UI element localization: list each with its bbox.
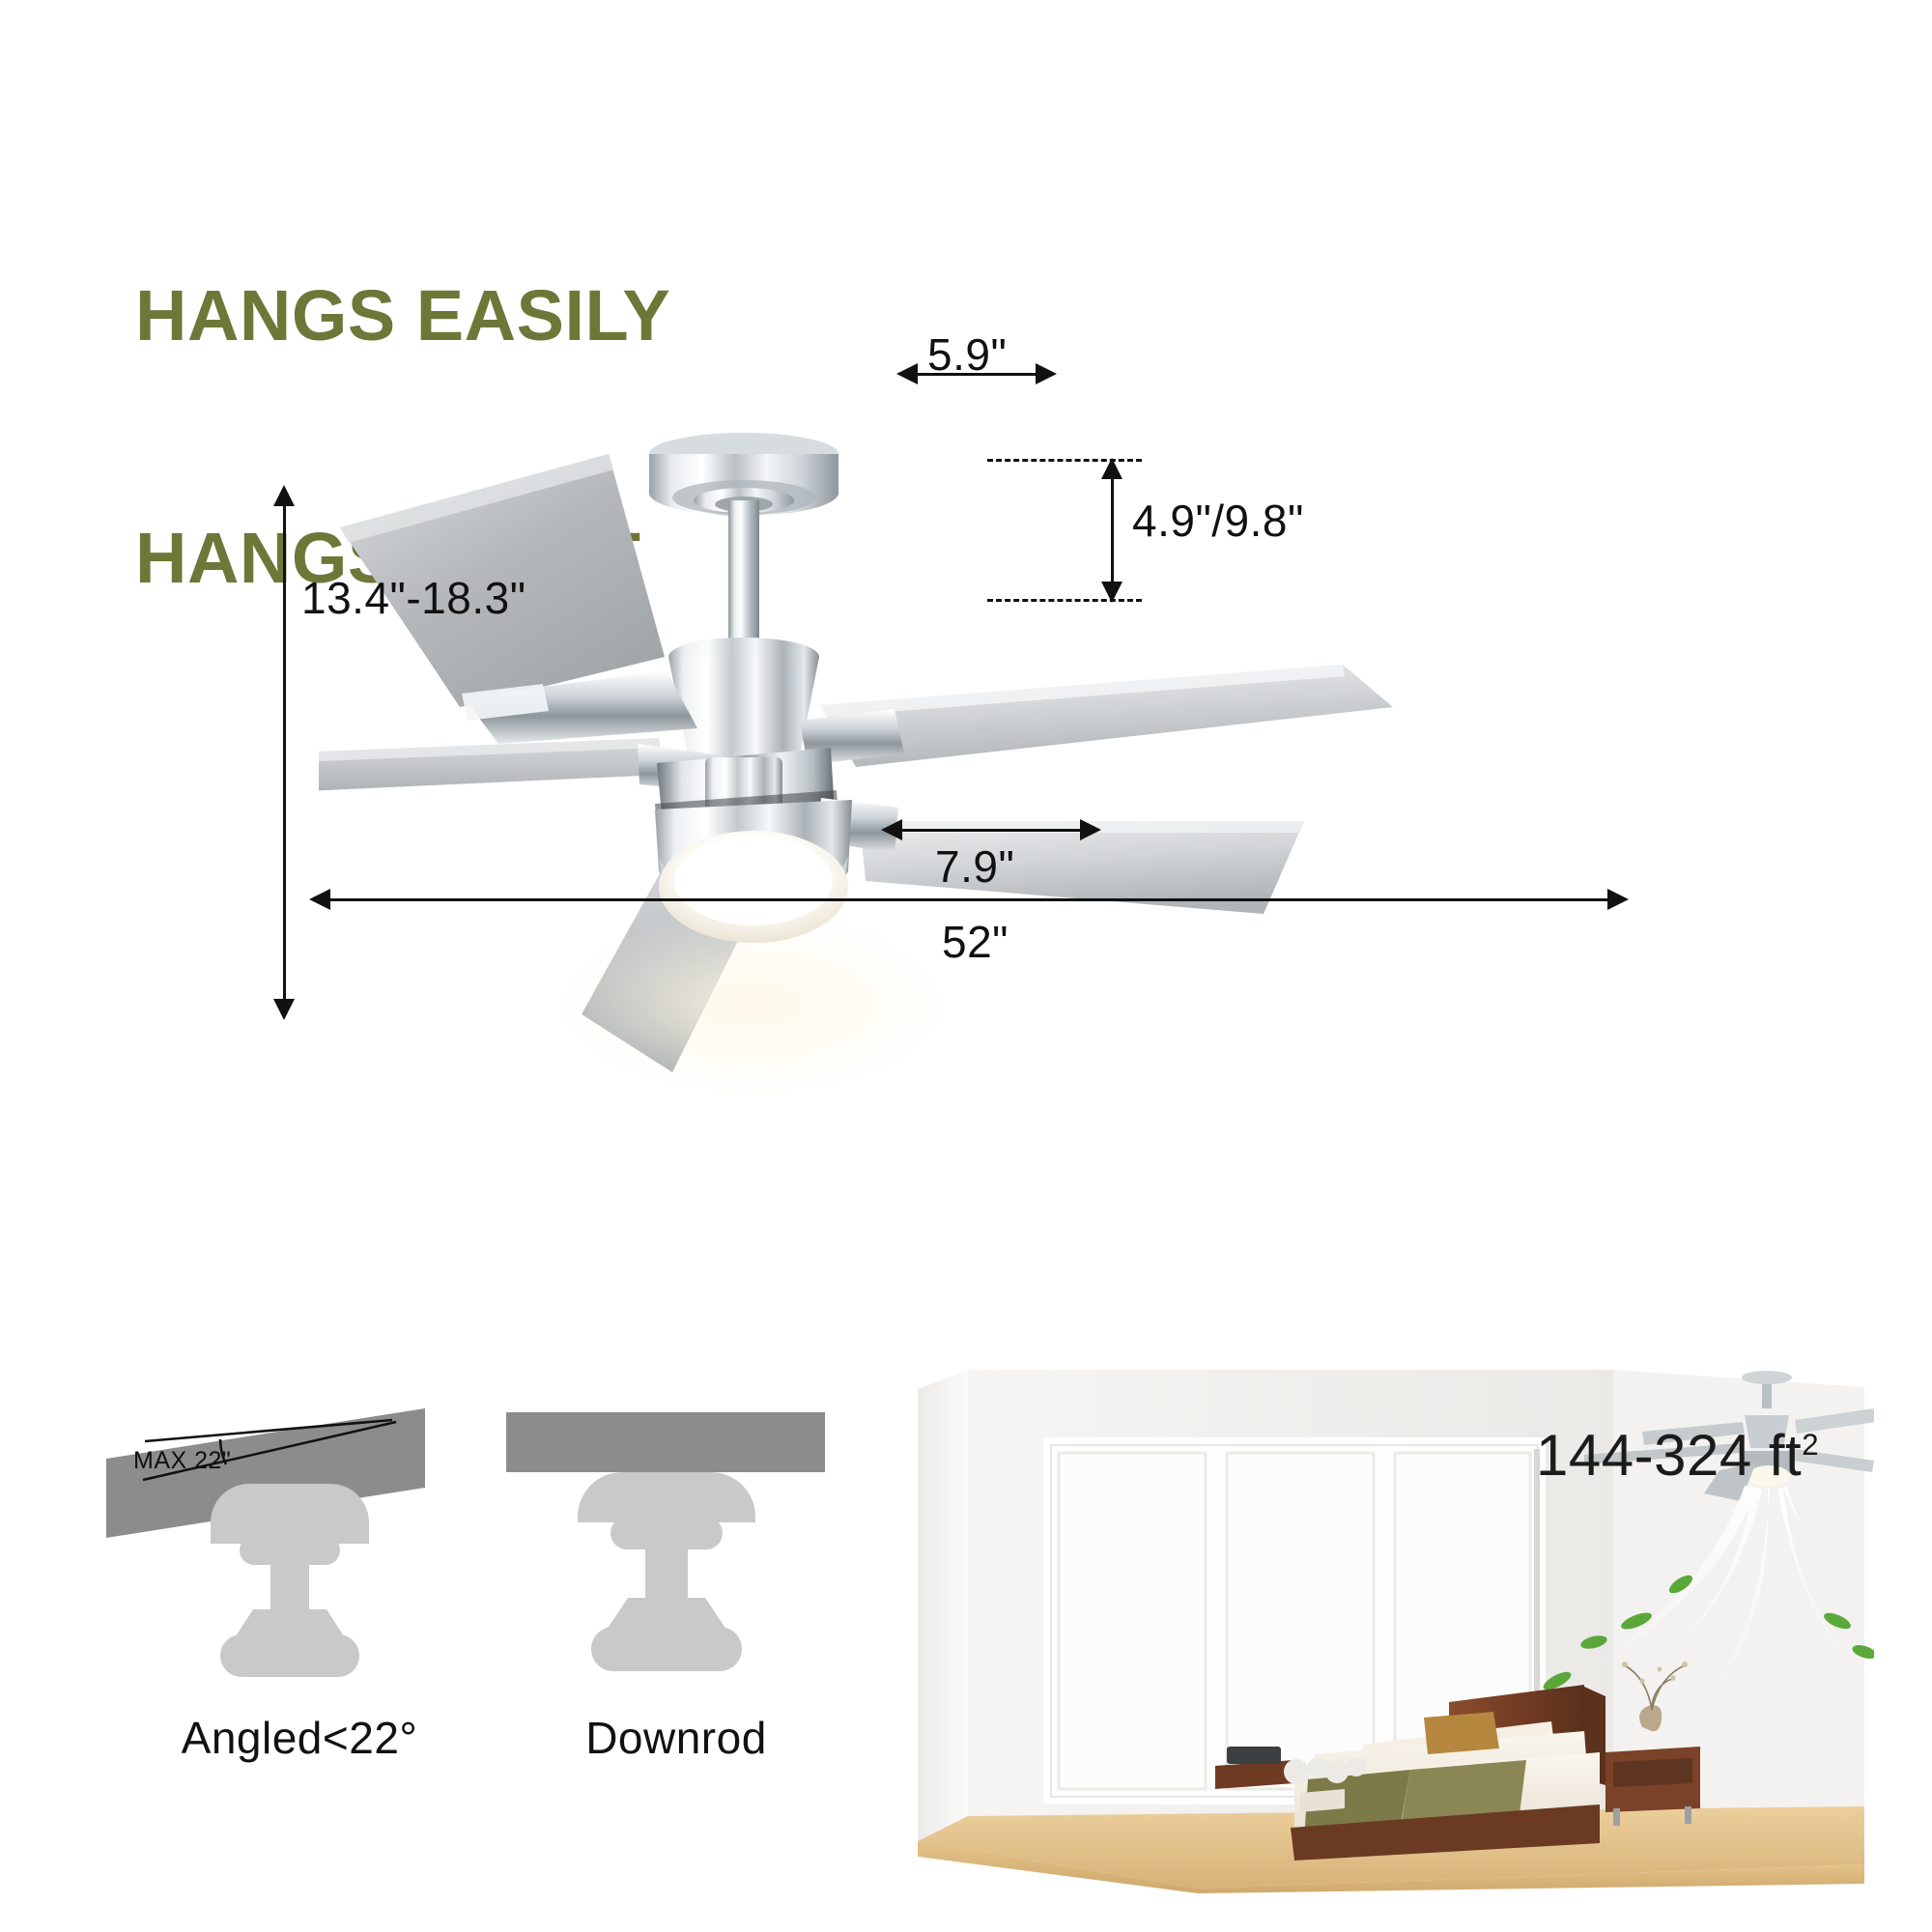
mounting-options: MAX 22" Angled<22° Downrod [0, 1391, 869, 1893]
dim-arrow-housing-right [1080, 819, 1101, 840]
dim-line-total-height [283, 495, 286, 1014]
dim-arrow-canopy-right [1036, 363, 1057, 384]
downrod-fan-silhouette [578, 1472, 755, 1671]
dim-arrow-span-left [309, 889, 330, 910]
dim-arrow-height-up [273, 485, 295, 506]
ceiling-fan-illustration [319, 338, 1555, 1188]
dim-label-total-height: 13.4"-18.3" [301, 572, 526, 624]
dim-line-downrod-drop [1111, 466, 1114, 599]
dimension-diagram: 5.9" 4.9"/9.8" 13.4"-18.3" 7.9" 52" [0, 319, 1932, 1217]
mount-option-angled[interactable]: MAX 22" Angled<22° [106, 1391, 493, 1777]
mount-option-downrod[interactable]: Downrod [483, 1391, 869, 1777]
fan-blade-right-upper [821, 665, 1393, 767]
dim-label-downrod-drop: 4.9"/9.8" [1132, 495, 1304, 547]
coverage-area-value: 144-324 ft [1536, 1423, 1802, 1488]
dim-label-housing-width: 7.9" [935, 840, 1014, 893]
angled-fan-silhouette [211, 1484, 369, 1677]
dim-arrow-housing-left [881, 819, 902, 840]
dim-arrow-downrod-up [1101, 458, 1122, 479]
dim-arrow-height-down [273, 999, 295, 1020]
dim-line-housing-width [900, 829, 1086, 832]
flat-ceiling-slab [506, 1412, 825, 1472]
fan-blade-left [319, 738, 663, 804]
coverage-area-exponent: 2 [1802, 1428, 1819, 1462]
dim-arrow-span-right [1607, 889, 1629, 910]
dim-arrow-downrod-down [1101, 582, 1122, 603]
angled-max-note-text: MAX 22" [133, 1447, 231, 1474]
fan-downrod [723, 500, 765, 655]
dim-line-canopy-width [916, 373, 1041, 376]
dim-label-blade-span: 52" [942, 916, 1009, 968]
dim-line-blade-span [328, 898, 1613, 901]
mount-caption-downrod: Downrod [483, 1712, 869, 1764]
mount-caption-angled: Angled<22° [106, 1712, 493, 1764]
dim-arrow-canopy-left [896, 363, 918, 384]
coverage-area-label: 144-324 ft2 [1536, 1422, 1819, 1489]
